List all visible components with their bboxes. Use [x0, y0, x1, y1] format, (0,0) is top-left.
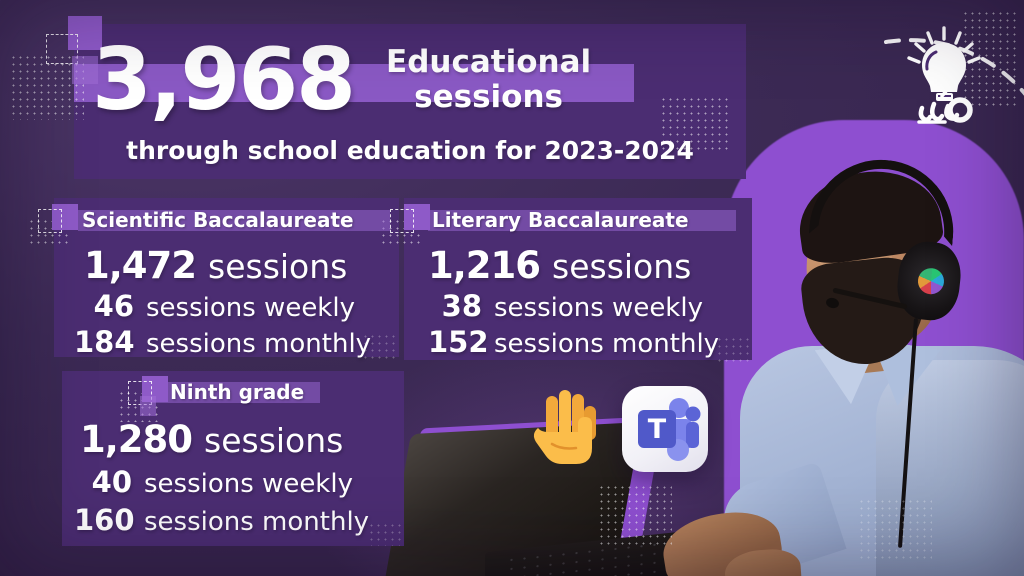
card2-monthly-text: sessions monthly: [494, 329, 719, 359]
card1-title-wrap: Scientific Baccalaureate: [82, 207, 354, 233]
card3-title: Ninth grade: [170, 380, 304, 404]
card3-weekly-value: 40: [74, 465, 132, 499]
card2-line-total: 1,216 sessions: [428, 244, 746, 287]
lightbulb-glass-icon: [922, 43, 966, 92]
card1-line-total: 1,472 sessions: [74, 244, 386, 287]
decor-square-dashed: [38, 209, 62, 233]
card1-weekly-value: 46: [74, 289, 134, 323]
card2-monthly-value: 152: [428, 325, 482, 359]
logo-wordmark-arabic: [919, 90, 970, 122]
card1-line-monthly: 184 sessions monthly: [74, 325, 386, 359]
infographic-canvas: 3,968 Educational sessions through schoo…: [0, 0, 1024, 576]
decor-square-soft: [140, 396, 156, 416]
card2-total-text: sessions: [552, 247, 691, 286]
card3-total-text: sessions: [204, 421, 343, 460]
card1-monthly-value: 184: [74, 325, 134, 359]
decor-square-dashed: [390, 209, 414, 233]
decor-motif-card1: [36, 204, 82, 238]
raised-hand-emoji: [528, 388, 606, 474]
card1-title: Scientific Baccalaureate: [82, 208, 354, 232]
card3-monthly-value: 160: [74, 503, 132, 537]
hero-subtitle: through school education for 2023-2024: [74, 136, 746, 165]
card3-line-monthly: 160 sessions monthly: [74, 503, 404, 537]
hero-label: Educational sessions: [386, 45, 591, 114]
card1-total-text: sessions: [208, 247, 347, 286]
card2-line-weekly: 38 sessions weekly: [428, 289, 746, 323]
card2-line-monthly: 152 sessions monthly: [428, 325, 746, 359]
hero-label-line1: Educational: [386, 45, 591, 80]
card3-line-total: 1,280 sessions: [74, 418, 404, 461]
card2-weekly-value: 38: [428, 289, 482, 323]
card3-total-value: 1,280: [74, 418, 192, 461]
card1-total-value: 1,472: [74, 244, 196, 287]
card3-line-weekly: 40 sessions weekly: [74, 465, 404, 499]
decor-motif-card3: [126, 376, 172, 410]
card2-weekly-text: sessions weekly: [494, 293, 703, 323]
hero-headline-row: 3,968 Educational sessions: [74, 26, 746, 134]
decor-dotgrid-laptop: [598, 484, 672, 546]
hero-label-line2: sessions: [386, 80, 591, 115]
card1-monthly-text: sessions monthly: [146, 329, 371, 359]
decor-dotgrid-photo-bottom: [858, 498, 932, 560]
card3-monthly-text: sessions monthly: [144, 507, 369, 537]
card3-stats: 1,280 sessions 40 sessions weekly 160 se…: [74, 418, 404, 537]
teams-letter: T: [648, 414, 667, 445]
decor-motif-card2: [388, 204, 434, 238]
card1-line-weekly: 46 sessions weekly: [74, 289, 386, 323]
brand-logo: [898, 26, 990, 126]
card3-title-wrap: Ninth grade: [170, 379, 304, 405]
card2-total-value: 1,216: [428, 244, 540, 287]
card3-weekly-text: sessions weekly: [144, 469, 353, 499]
hero-number: 3,968: [92, 37, 354, 123]
card1-stats: 1,472 sessions 46 sessions weekly 184 se…: [74, 244, 386, 359]
card1-weekly-text: sessions weekly: [146, 293, 355, 323]
card2-title-wrap: Literary Baccalaureate: [432, 207, 689, 233]
microsoft-teams-icon[interactable]: T: [622, 386, 708, 472]
card2-stats: 1,216 sessions 38 sessions weekly 152 se…: [428, 244, 746, 359]
card2-title: Literary Baccalaureate: [432, 208, 689, 232]
